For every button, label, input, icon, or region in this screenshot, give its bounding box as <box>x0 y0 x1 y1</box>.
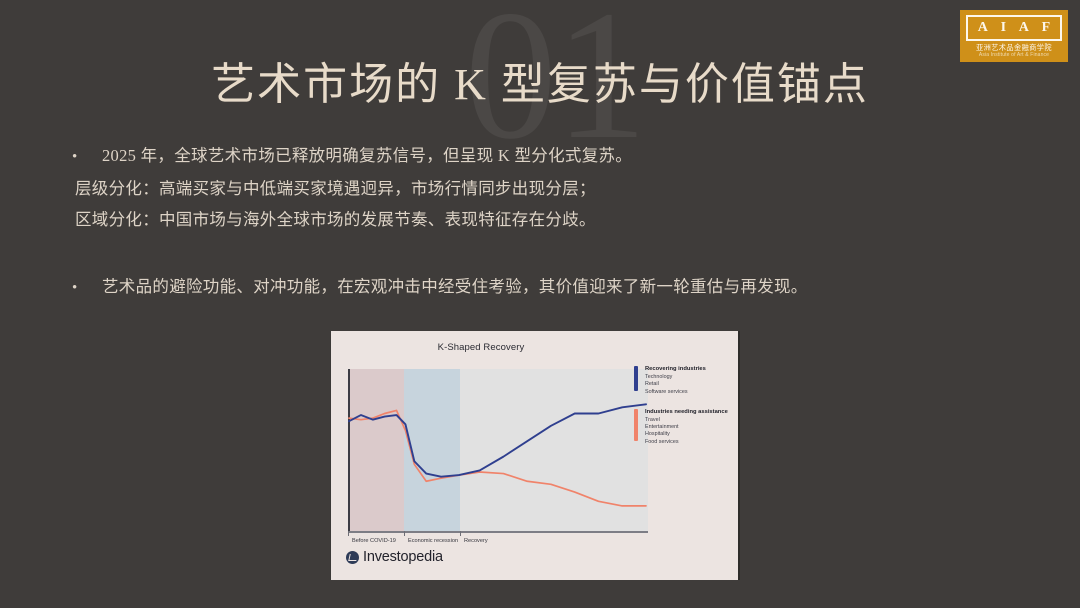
series-line-recovering <box>349 404 646 476</box>
legend-title-recovering: Recovering industries <box>645 365 739 373</box>
logo-letters: A I A F <box>973 20 1055 36</box>
xtick-mark-1 <box>348 531 349 536</box>
legend-title-needing-assistance: Industries needing assistance <box>645 408 739 416</box>
chart-legend: Recovering industries Technology Retail … <box>634 365 739 458</box>
logo-name-cn: 亚洲艺术品金融商学院 <box>966 43 1062 52</box>
legend-item-software-services: Software services <box>645 389 739 396</box>
page-title: 艺术市场的 K 型复苏与价值锚点 <box>0 48 1080 112</box>
investopedia-brand: Investopedia <box>346 549 443 565</box>
chart-image-card: K-Shaped Recovery Before COVID-19 Econom… <box>330 331 740 580</box>
slide-canvas: 01 艺术市场的 K 型复苏与价值锚点 A I A F 亚洲艺术品金融商学院 A… <box>0 0 1080 608</box>
chart-title: K-Shaped Recovery <box>331 342 631 353</box>
bullet-item-2: • 艺术品的避险功能、对冲功能，在宏观冲击中经受住考验，其价值迎来了新一轮重估与… <box>72 271 952 304</box>
bullet-marker-icon: • <box>72 142 102 173</box>
bullet-marker-icon-2: • <box>72 273 102 304</box>
legend-group-recovering: Recovering industries Technology Retail … <box>634 365 739 396</box>
series-line-needing-assistance <box>349 410 646 505</box>
xtick-mark-3 <box>460 531 461 536</box>
xtick-label-before-covid: Before COVID-19 <box>352 538 396 544</box>
legend-item-food-services: Food services <box>645 439 739 446</box>
xtick-mark-2 <box>404 531 405 536</box>
bullet-1-text: 2025 年，全球艺术市场已释放明确复苏信号，但呈现 K 型分化式复苏。 <box>102 140 952 171</box>
chart-plot-area <box>346 369 634 533</box>
legend-item-hospitality: Hospitality <box>645 431 739 438</box>
legend-group-needing-assistance: Industries needing assistance Travel Ent… <box>634 408 739 446</box>
legend-item-entertainment: Entertainment <box>645 424 739 431</box>
legend-item-technology: Technology <box>645 374 739 381</box>
xtick-label-recovery: Recovery <box>464 538 488 544</box>
chart-series-svg <box>346 369 648 533</box>
investopedia-wordmark: Investopedia <box>363 549 443 565</box>
body-content: • 2025 年，全球艺术市场已释放明确复苏信号，但呈现 K 型分化式复苏。 层… <box>72 140 952 304</box>
investopedia-circle-icon <box>346 551 359 564</box>
legend-color-swatch-salmon <box>634 409 638 441</box>
bullet-item-1: • 2025 年，全球艺术市场已释放明确复苏信号，但呈现 K 型分化式复苏。 <box>72 140 952 173</box>
legend-item-retail: Retail <box>645 381 739 388</box>
aiaf-logo: A I A F 亚洲艺术品金融商学院 Asia Institute of Art… <box>960 10 1068 62</box>
logo-name-en: Asia Institute of Art & Finance <box>966 52 1062 59</box>
bullet-2-text: 艺术品的避险功能、对冲功能，在宏观冲击中经受住考验，其价值迎来了新一轮重估与再发… <box>102 271 952 302</box>
sub-line-2: 区域分化：中国市场与海外全球市场的发展节奏、表现特征存在分歧。 <box>75 204 952 235</box>
sub-line-1: 层级分化：高端买家与中低端买家境遇迥异，市场行情同步出现分层； <box>75 173 952 204</box>
legend-color-swatch-blue <box>634 366 638 391</box>
logo-letter-box: A I A F <box>966 15 1062 41</box>
xtick-label-recession: Economic recession <box>408 538 458 544</box>
legend-item-travel: Travel <box>645 417 739 424</box>
